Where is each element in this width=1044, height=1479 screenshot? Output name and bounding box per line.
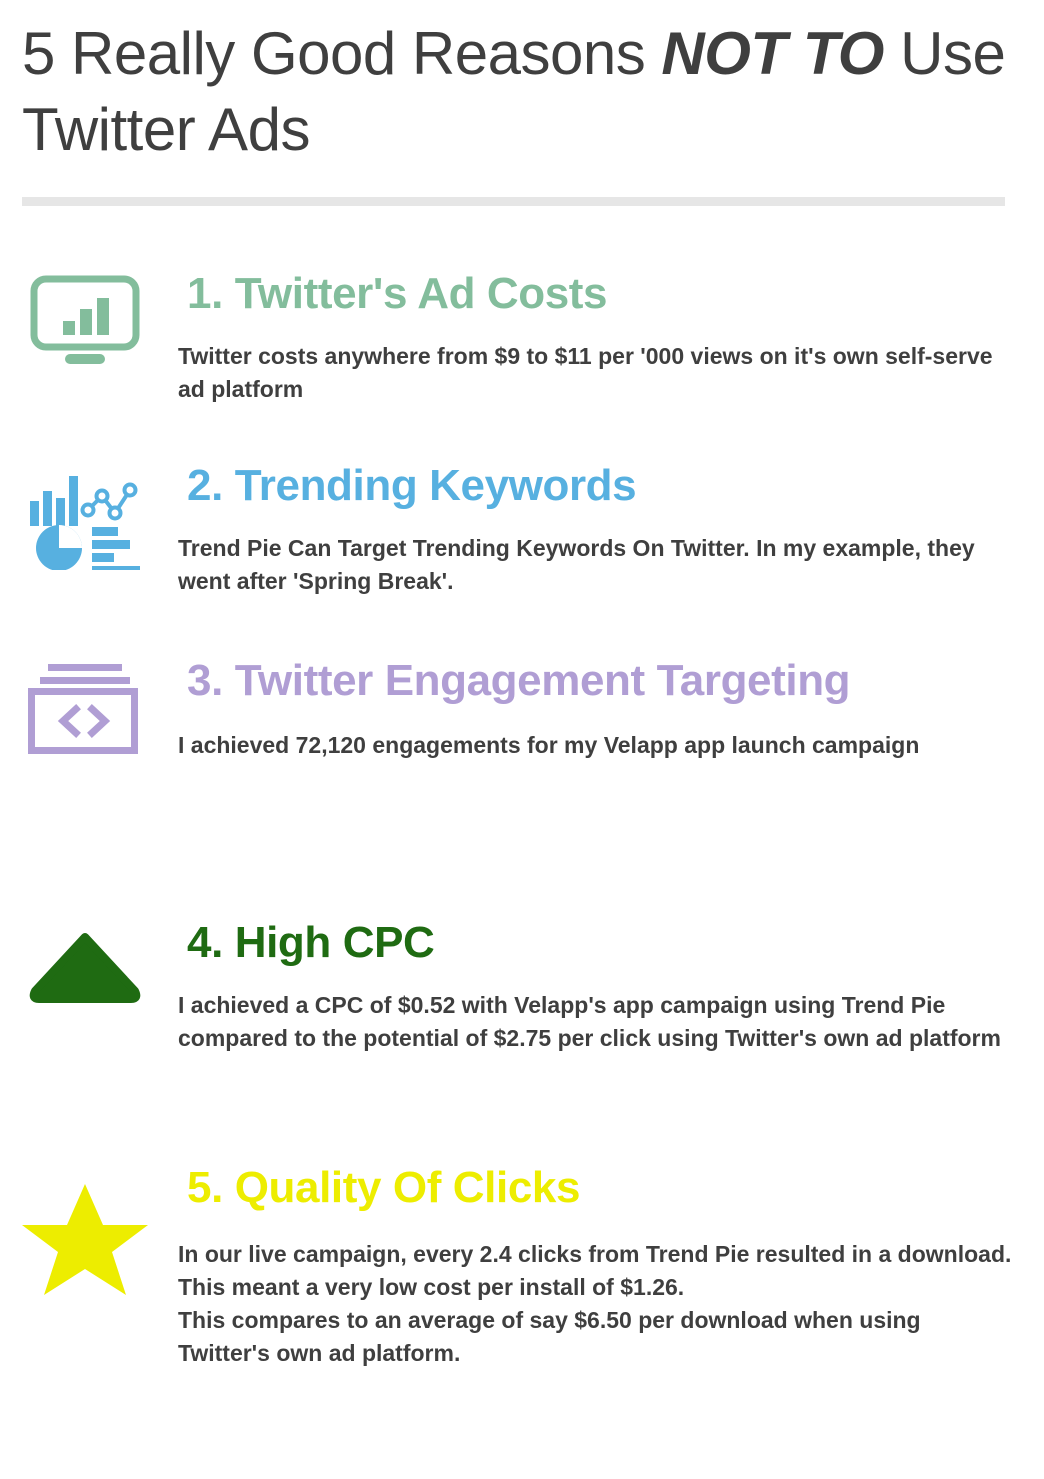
section-heading-5: 5. Quality Of Clicks xyxy=(178,1162,1018,1214)
section-trending-keywords: 2. Trending Keywords Trend Pie Can Targe… xyxy=(0,460,1044,598)
page-title: 5 Really Good Reasons NOT TO Use Twitter… xyxy=(22,16,1012,168)
section-paragraph: I achieved 72,120 engagements for my Vel… xyxy=(178,729,1018,762)
section-body-1: 1. Twitter's Ad Costs Twitter costs anyw… xyxy=(178,268,1018,406)
icon-slot-4 xyxy=(0,931,170,1003)
section-paragraphs-4: I achieved a CPC of $0.52 with Velapp's … xyxy=(178,989,1018,1055)
icon-slot-5 xyxy=(0,1178,170,1298)
analytics-dashboard-icon xyxy=(26,466,144,570)
section-paragraph: Trend Pie Can Target Trending Keywords O… xyxy=(178,532,1018,598)
title-block: 5 Really Good Reasons NOT TO Use Twitter… xyxy=(22,16,1012,168)
section-paragraph: I achieved a CPC of $0.52 with Velapp's … xyxy=(178,989,1018,1055)
section-body-2: 2. Trending Keywords Trend Pie Can Targe… xyxy=(178,460,1018,598)
section-paragraph: This compares to an average of say $6.50… xyxy=(178,1304,1018,1370)
code-window-icon xyxy=(28,661,142,757)
title-part-1: 5 Really Good Reasons xyxy=(22,20,661,87)
triangle-up-icon xyxy=(27,931,143,1003)
header-divider xyxy=(22,197,1005,206)
section-body-3: 3. Twitter Engagement Targeting I achiev… xyxy=(178,655,1018,762)
section-heading-1: 1. Twitter's Ad Costs xyxy=(178,268,1018,320)
section-high-cpc: 4. High CPC I achieved a CPC of $0.52 wi… xyxy=(0,917,1044,1055)
icon-slot-2 xyxy=(0,466,170,570)
icon-slot-3 xyxy=(0,661,170,757)
section-twitter-engagement-targeting: 3. Twitter Engagement Targeting I achiev… xyxy=(0,655,1044,762)
section-heading-4: 4. High CPC xyxy=(178,917,1018,969)
section-quality-of-clicks: 5. Quality Of Clicks In our live campaig… xyxy=(0,1162,1044,1370)
section-paragraphs-5: In our live campaign, every 2.4 clicks f… xyxy=(178,1238,1018,1370)
section-body-4: 4. High CPC I achieved a CPC of $0.52 wi… xyxy=(178,917,1018,1055)
section-paragraphs-1: Twitter costs anywhere from $9 to $11 pe… xyxy=(178,340,1018,406)
section-paragraph: Twitter costs anywhere from $9 to $11 pe… xyxy=(178,340,1018,406)
section-paragraphs-3: I achieved 72,120 engagements for my Vel… xyxy=(178,729,1018,762)
section-paragraph: In our live campaign, every 2.4 clicks f… xyxy=(178,1238,1018,1304)
infographic-page: 5 Really Good Reasons NOT TO Use Twitter… xyxy=(0,0,1044,1479)
icon-slot-1 xyxy=(0,274,170,370)
star-icon xyxy=(22,1178,148,1298)
section-body-5: 5. Quality Of Clicks In our live campaig… xyxy=(178,1162,1018,1370)
section-heading-2: 2. Trending Keywords xyxy=(178,460,1018,512)
section-twitters-ad-costs: 1. Twitter's Ad Costs Twitter costs anyw… xyxy=(0,268,1044,406)
section-heading-3: 3. Twitter Engagement Targeting xyxy=(178,655,1018,707)
title-emphasis: NOT TO xyxy=(661,20,884,87)
monitor-bar-chart-icon xyxy=(29,274,141,370)
section-paragraphs-2: Trend Pie Can Target Trending Keywords O… xyxy=(178,532,1018,598)
